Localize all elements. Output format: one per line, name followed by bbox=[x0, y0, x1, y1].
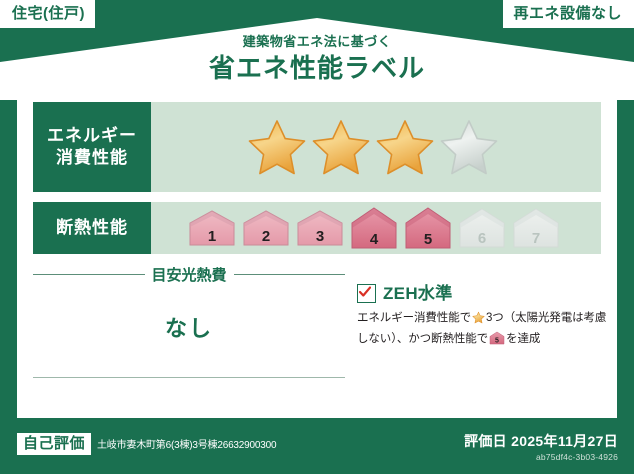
star-icon-filled-3 bbox=[374, 116, 436, 178]
house-level-number: 5 bbox=[403, 232, 453, 247]
zeh-section: ZEH水準 エネルギー消費性能で3つ（太陽光発電は考慮しない）、かつ断熱性能で5… bbox=[357, 284, 607, 352]
utility-cost-heading: 目安光熱費 bbox=[33, 264, 345, 285]
svg-text:5: 5 bbox=[495, 337, 499, 344]
footer: 自己評価 土岐市妻木町第6(3棟)3号棟26632900300 評価日 2025… bbox=[0, 424, 634, 474]
star-rating bbox=[246, 116, 500, 178]
zeh-title: ZEH水準 bbox=[383, 285, 453, 302]
insulation-label-text: 断熱性能 bbox=[56, 217, 128, 239]
title-block: 建築物省エネ法に基づく 省エネ性能ラベル bbox=[0, 34, 634, 84]
utility-cost-value: なし bbox=[33, 311, 345, 343]
zeh-desc-part1: エネルギー消費性能で bbox=[357, 312, 471, 324]
house-level-number: 1 bbox=[187, 229, 237, 244]
label-title: 省エネ性能ラベル bbox=[0, 53, 634, 84]
star-icon-empty-4 bbox=[438, 116, 500, 178]
insulation-performance-label: 断熱性能 bbox=[33, 202, 151, 254]
house-level-number: 7 bbox=[511, 231, 561, 246]
house-icon-level-7: 7 bbox=[511, 206, 561, 250]
house-icon-inline: 5 bbox=[489, 331, 505, 352]
house-icon-level-5: 5 bbox=[403, 205, 453, 251]
energy-label-line2: 消費性能 bbox=[56, 147, 128, 169]
evaluation-date-label: 評価日 bbox=[464, 433, 507, 449]
label-subtitle: 建築物省エネ法に基づく bbox=[0, 34, 634, 50]
insulation-performance-value: 1 2 3 bbox=[151, 202, 601, 254]
energy-performance-row: エネルギー 消費性能 bbox=[33, 102, 601, 192]
utility-cost-section: 目安光熱費 なし bbox=[33, 264, 345, 378]
house-level-number: 6 bbox=[457, 231, 507, 246]
house-level-number: 2 bbox=[241, 229, 291, 244]
zeh-description: エネルギー消費性能で3つ（太陽光発電は考慮しない）、かつ断熱性能で5を達成 bbox=[357, 310, 607, 352]
house-level-number: 3 bbox=[295, 229, 345, 244]
house-icon-level-4: 4 bbox=[349, 205, 399, 251]
property-address: 土岐市妻木町第6(3棟)3号棟26632900300 bbox=[97, 441, 276, 451]
checkbox-checked-icon bbox=[357, 284, 376, 303]
insulation-performance-row: 断熱性能 bbox=[33, 202, 601, 254]
house-icon-level-2: 2 bbox=[241, 208, 291, 248]
star-icon-filled-2 bbox=[310, 116, 372, 178]
house-icon-level-3: 3 bbox=[295, 208, 345, 248]
energy-performance-label: エネルギー 消費性能 bbox=[33, 102, 151, 192]
house-icon-level-1: 1 bbox=[187, 208, 237, 248]
energy-label-line1: エネルギー bbox=[47, 125, 137, 147]
energy-performance-value bbox=[151, 102, 601, 192]
heading-rule-left bbox=[33, 274, 145, 275]
evaluation-date: 評価日 2025年11月27日 bbox=[464, 434, 618, 448]
heading-rule-right bbox=[234, 274, 346, 275]
house-icon-level-6: 6 bbox=[457, 206, 507, 250]
star-icon-filled-1 bbox=[246, 116, 308, 178]
renewable-energy-badge: 再エネ設備なし bbox=[503, 0, 634, 28]
evaluation-date-value: 2025年11月27日 bbox=[511, 433, 618, 449]
building-type-badge: 住宅(住戸) bbox=[0, 0, 95, 28]
house-level-number: 4 bbox=[349, 232, 399, 247]
assessment-type-badge: 自己評価 bbox=[17, 433, 91, 455]
evaluation-id: ab75df4c-3b03-4926 bbox=[536, 453, 618, 462]
zeh-title-line: ZEH水準 bbox=[357, 284, 607, 303]
label-card: エネルギー 消費性能 bbox=[17, 88, 617, 418]
zeh-desc-part3: を達成 bbox=[506, 333, 540, 345]
utility-cost-heading-text: 目安光熱費 bbox=[152, 264, 227, 285]
star-icon-inline bbox=[472, 311, 485, 331]
zeh-desc-star-count: 3つ（太陽光発電 bbox=[486, 312, 572, 324]
insulation-level-scale: 1 2 3 bbox=[187, 205, 561, 251]
utility-cost-divider bbox=[33, 377, 345, 378]
